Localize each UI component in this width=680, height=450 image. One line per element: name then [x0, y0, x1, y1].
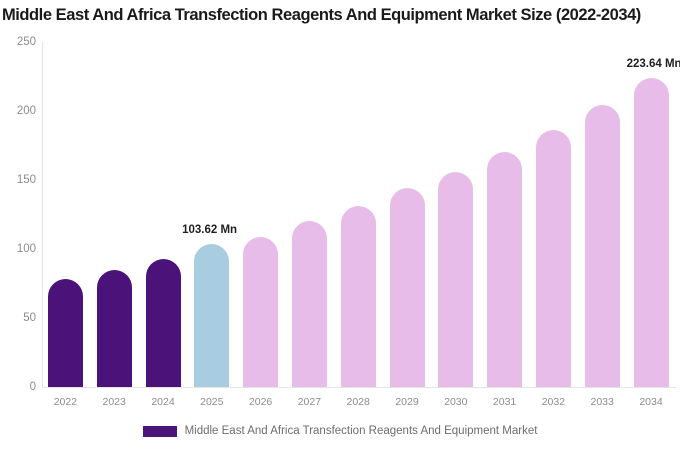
- legend-label: Middle East And Africa Transfection Reag…: [185, 425, 538, 437]
- legend-item-0[interactable]: Middle East And Africa Transfection Reag…: [143, 425, 538, 437]
- y-axis-tick-label: 250: [2, 36, 36, 48]
- x-axis-line: [42, 387, 676, 388]
- x-axis-tick-label-2030: 2030: [430, 396, 481, 409]
- x-axis-tick-label-2022: 2022: [40, 396, 91, 409]
- x-axis-tick-label-2028: 2028: [333, 396, 384, 409]
- bar-2027[interactable]: [292, 221, 327, 387]
- y-axis-tick-200: 200: [0, 105, 36, 117]
- x-axis-tick-label-2023: 2023: [89, 396, 140, 409]
- y-axis-tick-label: 200: [2, 105, 36, 117]
- value-label-2025: 103.62 Mn: [182, 224, 237, 237]
- bar-2025[interactable]: [194, 244, 229, 387]
- bar-2032[interactable]: [536, 130, 571, 387]
- x-axis-tick-label-2025: 2025: [186, 396, 237, 409]
- plot-area: 050100150200250 103.62 Mn223.64 Mn 20222…: [0, 0, 680, 450]
- bar-2030[interactable]: [438, 172, 473, 387]
- x-axis-tick-label-2029: 2029: [382, 396, 433, 409]
- x-axis-tick-label-2031: 2031: [479, 396, 530, 409]
- x-axis-tick-label-2032: 2032: [528, 396, 579, 409]
- y-axis-tick-label: 50: [2, 312, 36, 324]
- y-axis-tick-250: 250: [0, 36, 36, 48]
- legend-swatch-icon: [143, 426, 177, 437]
- bar-2034[interactable]: [634, 78, 669, 387]
- x-axis-tick-label-2027: 2027: [284, 396, 335, 409]
- y-axis-line: [42, 42, 43, 387]
- x-axis-tick-label-2034: 2034: [626, 396, 677, 409]
- bar-2029[interactable]: [390, 188, 425, 387]
- bar-2033[interactable]: [585, 105, 620, 387]
- bar-2024[interactable]: [146, 259, 181, 387]
- y-axis-tick-label: 0: [2, 381, 36, 393]
- bar-2031[interactable]: [487, 152, 522, 387]
- y-axis-tick-label: 100: [2, 243, 36, 255]
- bar-2028[interactable]: [341, 206, 376, 387]
- bar-2026[interactable]: [243, 237, 278, 387]
- y-axis-tick-100: 100: [0, 243, 36, 255]
- y-axis-tick-0: 0: [0, 381, 36, 393]
- x-axis-tick-label-2026: 2026: [235, 396, 286, 409]
- x-axis-tick-label-2024: 2024: [138, 396, 189, 409]
- x-axis-tick-label-2033: 2033: [577, 396, 628, 409]
- bar-2023[interactable]: [97, 270, 132, 387]
- chart-legend: Middle East And Africa Transfection Reag…: [0, 425, 680, 437]
- y-axis-tick-150: 150: [0, 174, 36, 186]
- bar-2022[interactable]: [48, 279, 83, 387]
- y-axis-tick-label: 150: [2, 174, 36, 186]
- value-label-2034: 223.64 Mn: [627, 58, 680, 71]
- y-axis-tick-50: 50: [0, 312, 36, 324]
- chart-container: Middle East And Africa Transfection Reag…: [0, 0, 680, 450]
